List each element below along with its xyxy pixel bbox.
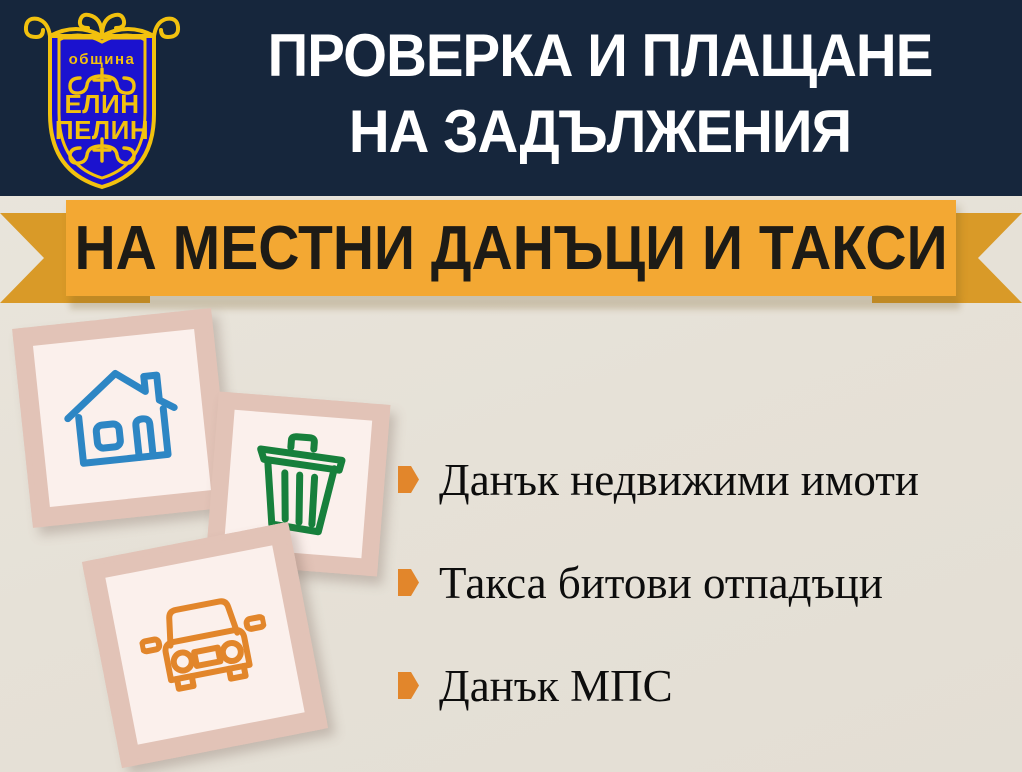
stamp-house-paper	[33, 329, 211, 507]
list-item[interactable]: Данък недвижими имоти	[398, 428, 1013, 531]
stamp-car-paper	[105, 545, 304, 744]
arrow-right-icon	[398, 569, 419, 596]
list-item-label: Такса битови отпадъци	[439, 558, 883, 608]
list-item-label: Данък МПС	[439, 661, 673, 711]
arrow-right-icon	[398, 466, 419, 493]
house-icon	[57, 357, 188, 479]
ribbon-banner: НА МЕСТНИ ДАНЪЦИ И ТАКСИ	[0, 196, 1022, 306]
crest-label-obshtina: община	[69, 51, 136, 68]
car-front-icon	[133, 584, 278, 707]
stamp-house	[12, 308, 232, 528]
list-item-label: Данък недвижими имоти	[439, 455, 919, 505]
poster-root: община ЕЛИН ПЕЛИН ПРОВЕРКА И ПЛАЩАНЕ НА …	[0, 0, 1022, 772]
arrow-right-icon	[398, 672, 419, 699]
list-item[interactable]: Данък МПС	[398, 634, 1013, 737]
coat-of-arms-shield-icon: община ЕЛИН ПЕЛИН	[22, 6, 182, 190]
crest-label-pelin: ПЕЛИН	[55, 115, 149, 145]
stamp-car	[82, 522, 328, 768]
list-item[interactable]: Такса битови отпадъци	[398, 531, 1013, 634]
ribbon-label: НА МЕСТНИ ДАНЪЦИ И ТАКСИ	[102, 200, 921, 296]
trash-can-icon	[244, 428, 352, 540]
page-title: ПРОВЕРКА И ПЛАЩАНЕ НА ЗАДЪЛЖЕНИЯ	[215, 18, 986, 170]
tax-list: Данък недвижими имоти Такса битови отпад…	[398, 428, 1013, 737]
ribbon-band: НА МЕСТНИ ДАНЪЦИ И ТАКСИ	[66, 200, 956, 296]
